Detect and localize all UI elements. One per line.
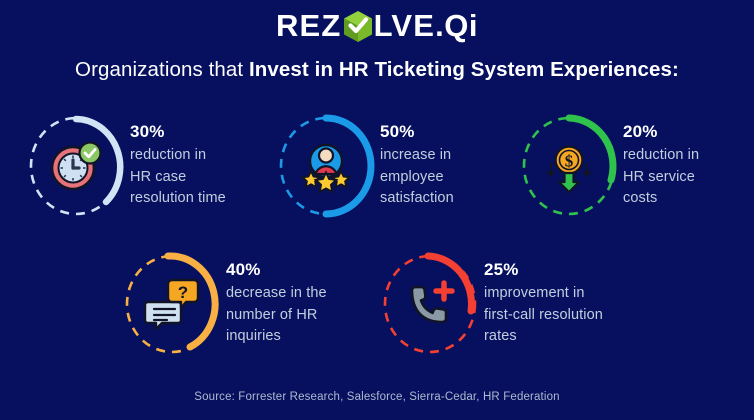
stat-card: ? 40% decrease in the number of HR inqui…	[118, 248, 376, 360]
stat-line: increase in	[380, 145, 454, 167]
logo-text-suffix: .Qi	[435, 8, 478, 44]
stat-card: 25% improvement in first-call resolution…	[376, 248, 676, 360]
stat-text: 20% reduction in HR service costs	[623, 110, 699, 210]
stat-percent: 40%	[226, 260, 327, 280]
progress-ring: ?	[118, 248, 226, 360]
stat-line: first-call resolution	[484, 305, 603, 327]
stat-line: HR case	[130, 167, 226, 189]
stat-line: HR service	[623, 167, 699, 189]
stat-percent: 20%	[623, 122, 699, 142]
logo-text-part2: LVE	[374, 8, 436, 44]
stat-line: reduction in	[623, 145, 699, 167]
stat-text: 50% increase in employee satisfaction	[380, 110, 454, 210]
stat-text: 40% decrease in the number of HR inquiri…	[226, 248, 327, 348]
stat-line: inquiries	[226, 326, 327, 348]
stat-percent: 30%	[130, 122, 226, 142]
progress-ring	[376, 248, 484, 360]
stat-card: 50% increase in employee satisfaction	[272, 110, 515, 222]
svg-text:?: ?	[178, 283, 188, 302]
stat-percent: 50%	[380, 122, 454, 142]
chat-question-icon: ?	[142, 274, 202, 334]
stat-text: 30% reduction in HR case resolution time	[130, 110, 226, 210]
headline-bold: Invest in HR Ticketing System Experience…	[249, 58, 679, 81]
stat-line: resolution time	[130, 188, 226, 210]
stat-description: increase in employee satisfaction	[380, 145, 454, 210]
stats-row-bottom: ? 40% decrease in the number of HR inqui…	[118, 248, 678, 360]
stat-card: 30% reduction in HR case resolution time	[22, 110, 272, 222]
stat-card: $ 20% reduction in HR service costs	[515, 110, 734, 222]
stat-line: number of HR	[226, 305, 327, 327]
brand-logo: REZ LVE .Qi	[0, 8, 754, 44]
progress-ring: $	[515, 110, 623, 222]
stat-line: employee	[380, 167, 454, 189]
stat-description: decrease in the number of HR inquiries	[226, 283, 327, 348]
stat-line: costs	[623, 188, 699, 210]
dollar-down-icon: $	[539, 136, 599, 196]
stat-line: improvement in	[484, 283, 603, 305]
user-stars-icon	[296, 136, 356, 196]
svg-text:$: $	[565, 152, 574, 171]
stats-row-top: 30% reduction in HR case resolution time	[22, 110, 734, 222]
progress-ring	[22, 110, 130, 222]
logo-text-part1: REZ	[276, 8, 342, 44]
stat-line: reduction in	[130, 145, 226, 167]
page-title: Organizations that Invest in HR Ticketin…	[0, 58, 754, 82]
stat-line: rates	[484, 326, 603, 348]
phone-plus-icon	[400, 274, 460, 334]
progress-ring	[272, 110, 380, 222]
green-cube-check-icon	[343, 10, 373, 43]
clock-check-icon	[46, 136, 106, 196]
headline-light: Organizations that	[75, 58, 249, 81]
stat-line: decrease in the	[226, 283, 327, 305]
stat-line: satisfaction	[380, 188, 454, 210]
source-citation: Source: Forrester Research, Salesforce, …	[0, 391, 754, 403]
stat-text: 25% improvement in first-call resolution…	[484, 248, 603, 348]
stat-description: improvement in first-call resolution rat…	[484, 283, 603, 348]
stat-percent: 25%	[484, 260, 603, 280]
stat-description: reduction in HR case resolution time	[130, 145, 226, 210]
stat-description: reduction in HR service costs	[623, 145, 699, 210]
